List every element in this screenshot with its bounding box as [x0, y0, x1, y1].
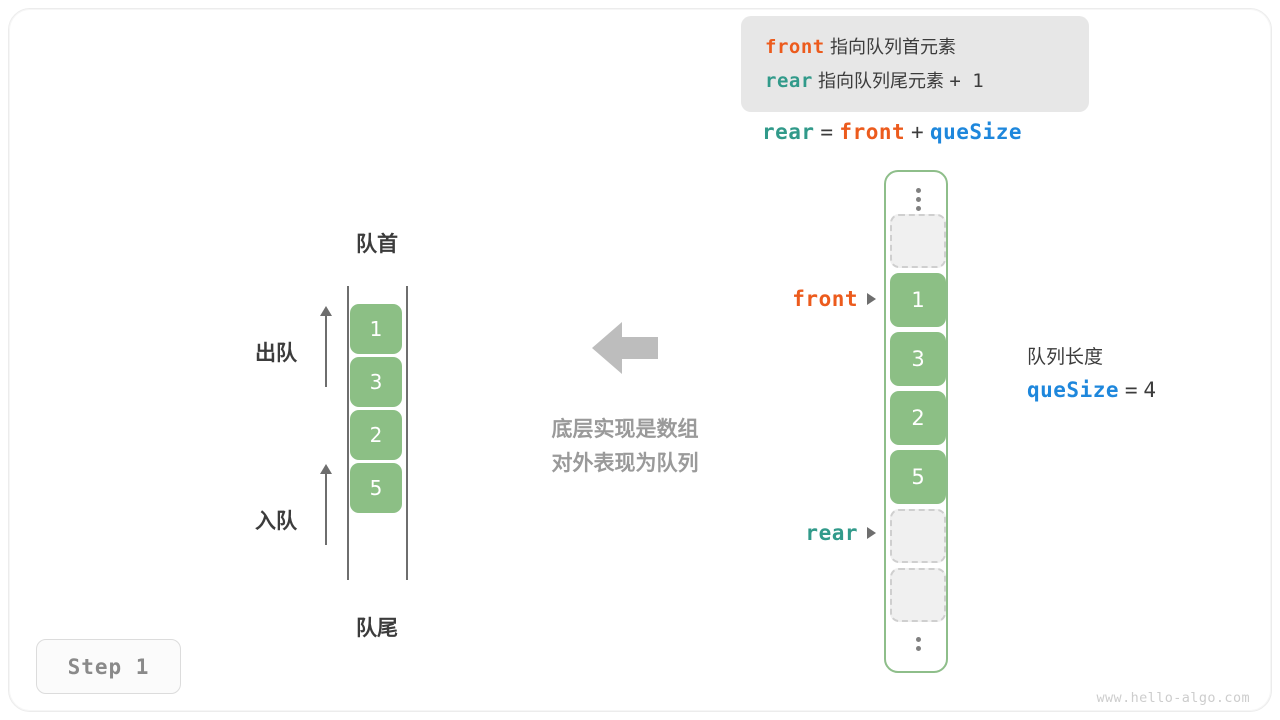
- legend-row-front: front 指向队列首元素: [765, 33, 956, 59]
- queue-cell-3[interactable]: 5: [350, 463, 402, 513]
- center-note-line-1: 底层实现是数组: [495, 412, 755, 446]
- arrow-right-icon: [867, 293, 876, 305]
- dequeue-arrow-up-icon: [325, 315, 327, 387]
- rear-pointer-label: rear: [805, 521, 876, 545]
- quesize-caption: 队列长度: [1027, 342, 1156, 369]
- quesize-equals: =: [1125, 378, 1138, 402]
- formula-equals: =: [820, 120, 833, 144]
- queue-rail-left: [347, 286, 349, 580]
- array-container: 1 3 2 5: [884, 170, 948, 673]
- legend-keyword-front: front: [765, 36, 825, 58]
- array-top-ellipsis-icon: [886, 180, 950, 218]
- queue-cell-2[interactable]: 2: [350, 410, 402, 460]
- queue-cell-1-value: 3: [370, 370, 383, 394]
- array-cell-5[interactable]: [890, 509, 946, 563]
- arrow-left-icon: [592, 322, 658, 374]
- quesize-name: queSize: [1027, 378, 1119, 402]
- watermark: www.hello-algo.com: [1097, 690, 1251, 706]
- array-cell-2-value: 3: [911, 347, 924, 371]
- step-badge: Step 1: [36, 639, 181, 694]
- queue-cell-0[interactable]: 1: [350, 304, 402, 354]
- queue-cell-1[interactable]: 3: [350, 357, 402, 407]
- diagram-canvas: front 指向队列首元素 rear 指向队列尾元素 + 1 rear = fr…: [0, 0, 1280, 720]
- legend-text-front: 指向队列首元素: [830, 37, 956, 58]
- legend-suffix-rear: + 1: [949, 70, 983, 92]
- enqueue-label: 入队: [255, 505, 297, 535]
- queue-rail-right: [406, 286, 408, 580]
- formula-rear: rear: [762, 120, 815, 144]
- legend-keyword-rear: rear: [765, 70, 813, 92]
- formula-plus: +: [911, 120, 924, 144]
- queue-cell-3-value: 5: [370, 476, 383, 500]
- formula-front: front: [839, 120, 905, 144]
- array-cell-1-value: 1: [911, 288, 924, 312]
- array-cell-0[interactable]: [890, 214, 946, 268]
- quesize-annotation: 队列长度 queSize = 4: [1027, 342, 1156, 403]
- rear-pointer-text: rear: [805, 521, 858, 545]
- front-pointer-label: front: [792, 287, 876, 311]
- array-cell-1[interactable]: 1: [890, 273, 946, 327]
- legend-text-rear: 指向队列尾元素: [818, 71, 944, 92]
- quesize-value: 4: [1143, 378, 1156, 402]
- formula-quesize: queSize: [930, 120, 1022, 144]
- center-note: 底层实现是数组 对外表现为队列: [495, 412, 755, 480]
- enqueue-arrow-up-icon: [325, 473, 327, 545]
- array-cell-3-value: 2: [911, 406, 924, 430]
- pointer-legend-box: front 指向队列首元素 rear 指向队列尾元素 + 1: [741, 16, 1089, 112]
- array-cell-4[interactable]: 5: [890, 450, 946, 504]
- center-note-line-2: 对外表现为队列: [495, 446, 755, 480]
- rear-formula: rear = front + queSize: [762, 120, 1022, 145]
- array-cell-3[interactable]: 2: [890, 391, 946, 445]
- front-pointer-text: front: [792, 287, 858, 311]
- queue-cell-0-value: 1: [370, 317, 383, 341]
- array-cell-2[interactable]: 3: [890, 332, 946, 386]
- queue-head-label: 队首: [277, 228, 477, 258]
- array-cell-6[interactable]: [890, 568, 946, 622]
- array-cell-4-value: 5: [911, 465, 924, 489]
- queue-tail-label: 队尾: [277, 612, 477, 642]
- array-bottom-ellipsis-icon: [886, 625, 950, 663]
- quesize-expression: queSize = 4: [1027, 378, 1156, 403]
- queue-cell-2-value: 2: [370, 423, 383, 447]
- arrow-right-icon: [867, 527, 876, 539]
- legend-row-rear: rear 指向队列尾元素 + 1: [765, 67, 984, 93]
- dequeue-label: 出队: [255, 337, 297, 367]
